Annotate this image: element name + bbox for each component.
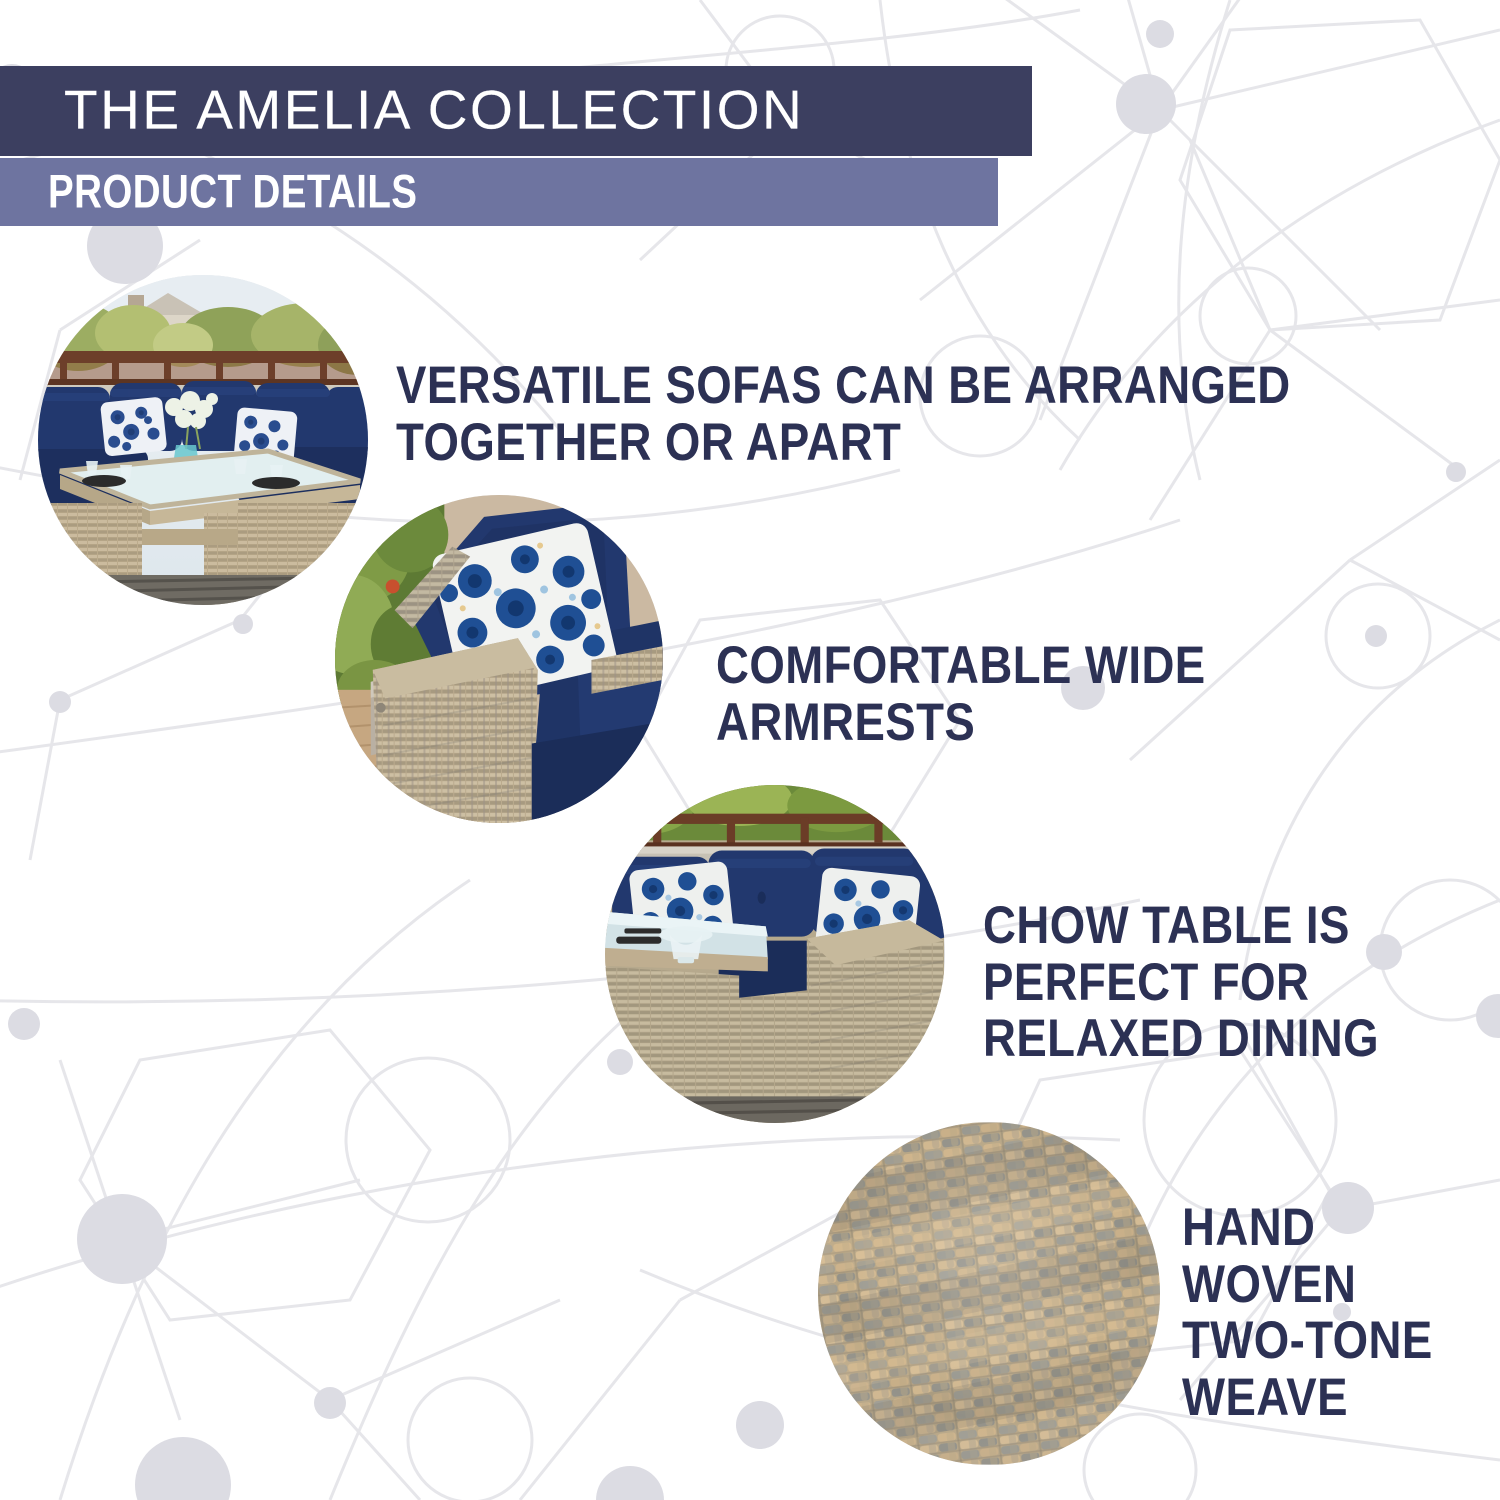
feature-caption-versatile-sofas: VERSATILE SOFAS CAN BE ARRANGED TOGETHER…: [396, 358, 1308, 471]
section-label-bar: PRODUCT DETAILS: [0, 158, 998, 226]
section-label: PRODUCT DETAILS: [48, 163, 417, 218]
feature-caption-wide-armrests: COMFORTABLE WIDE ARMRESTS: [716, 638, 1266, 751]
feature-caption-chow-table: CHOW TABLE IS PERFECT FOR RELAXED DINING: [983, 898, 1499, 1068]
two-tone-wicker-weave-swatch: [818, 1122, 1160, 1465]
feature-caption-line: HAND: [1182, 1200, 1500, 1257]
feature-caption-line: COMFORTABLE WIDE: [716, 638, 1266, 695]
feature-caption-line: VERSATILE SOFAS CAN BE ARRANGED: [396, 358, 1308, 415]
feature-caption-hand-woven-weave: HAND WOVEN TWO-TONE WEAVE: [1182, 1200, 1500, 1427]
wicker-armchair-armrest-photo: [335, 495, 663, 823]
feature-caption-line: TOGETHER OR APART: [396, 415, 1308, 472]
feature-image-chow-table: [605, 785, 945, 1123]
outdoor-sectional-with-dining-table-photo: [38, 275, 368, 605]
feature-caption-line: CHOW TABLE IS: [983, 898, 1499, 955]
collection-title-bar: THE AMELIA COLLECTION: [0, 66, 1032, 156]
feature-caption-line: ARMRESTS: [716, 695, 1266, 752]
feature-image-versatile-sofas: [38, 275, 368, 605]
feature-caption-line: RELAXED DINING: [983, 1011, 1499, 1068]
feature-caption-line: WOVEN: [1182, 1257, 1500, 1314]
feature-image-hand-woven-weave: [818, 1122, 1160, 1465]
chow-height-table-with-sofa-photo: [605, 785, 945, 1123]
feature-image-wide-armrests: [335, 495, 663, 823]
collection-title: THE AMELIA COLLECTION: [64, 78, 804, 142]
feature-caption-line: TWO-TONE: [1182, 1313, 1500, 1370]
infographic-canvas: THE AMELIA COLLECTION PRODUCT DETAILS: [0, 0, 1500, 1500]
feature-caption-line: WEAVE: [1182, 1370, 1500, 1427]
feature-caption-line: PERFECT FOR: [983, 955, 1499, 1012]
